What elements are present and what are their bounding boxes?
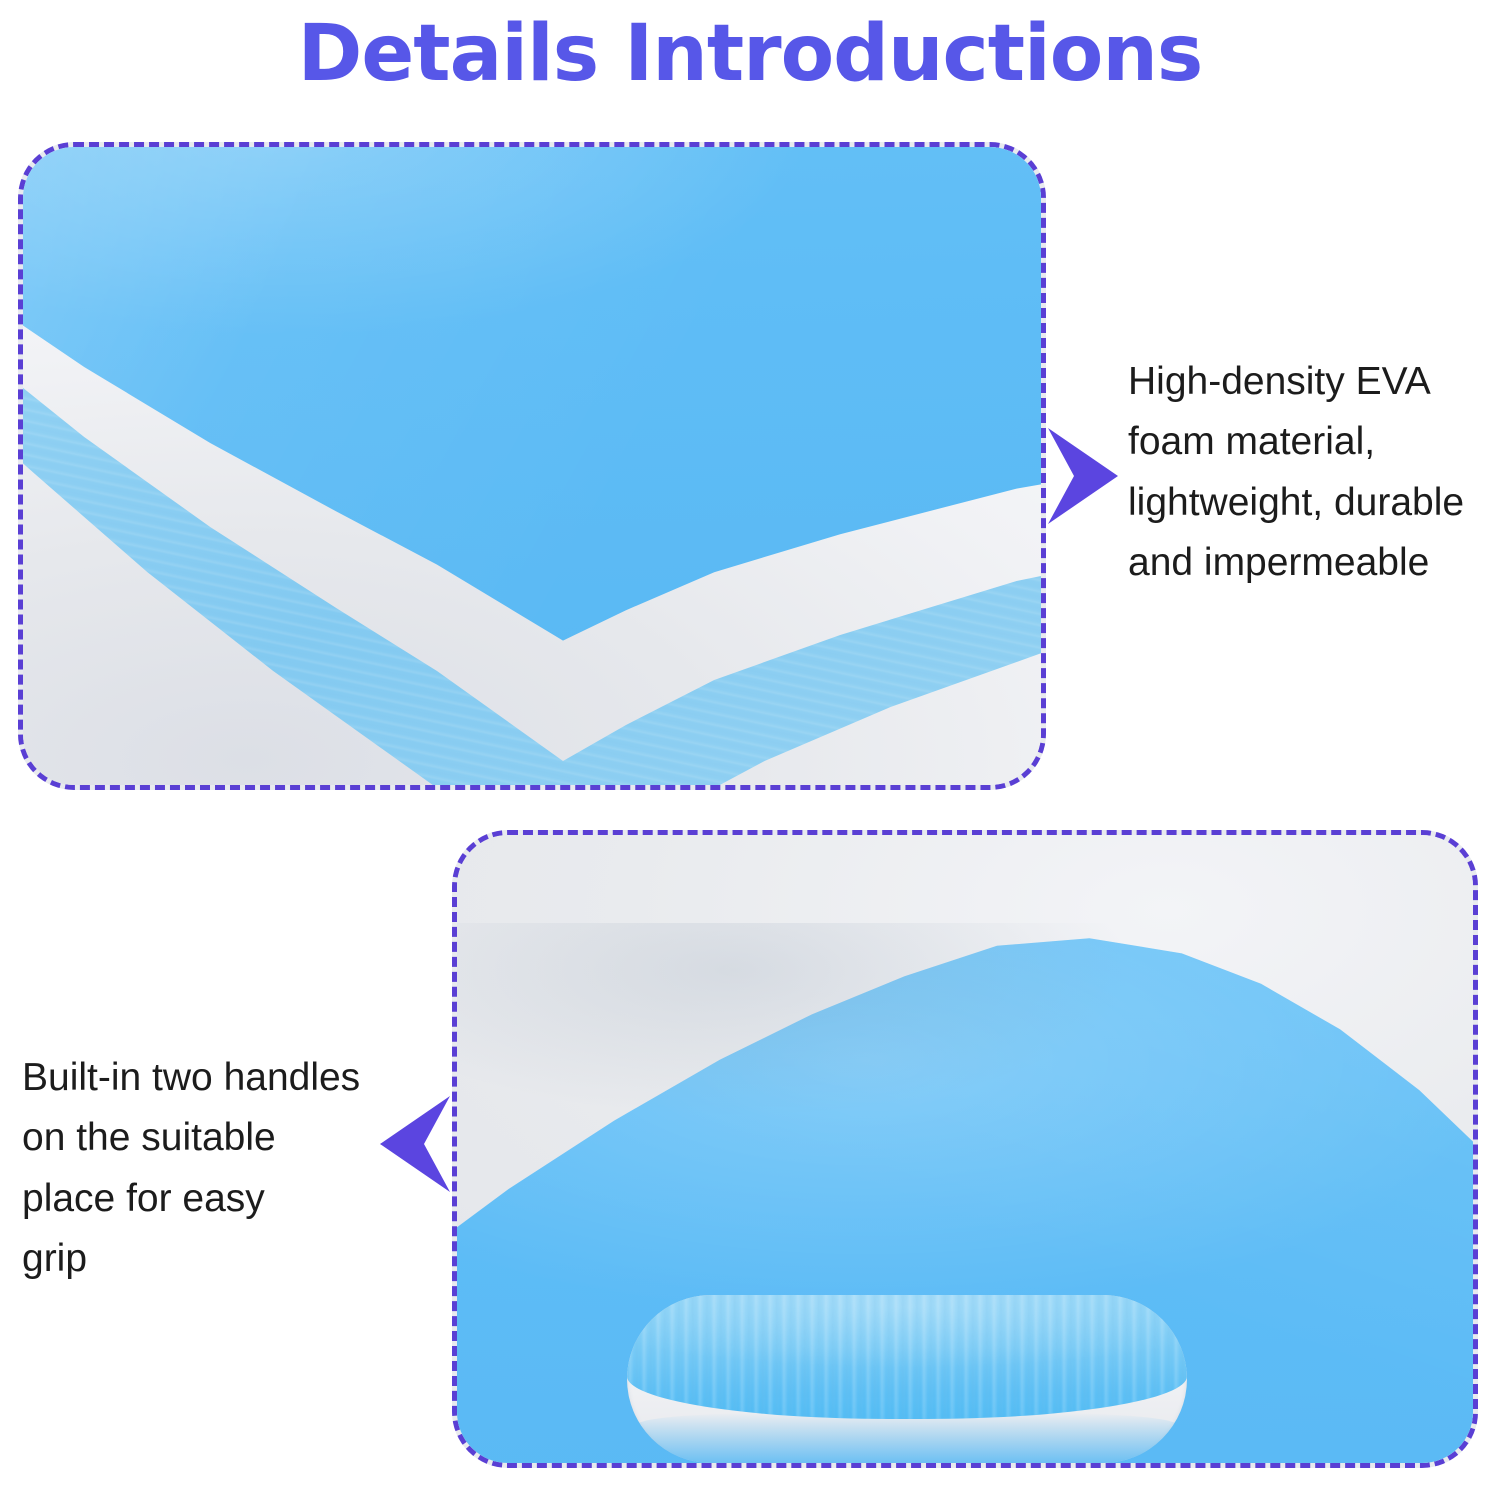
foam-board-corner-photo xyxy=(23,147,1041,785)
arrow-right-icon xyxy=(1044,424,1122,528)
callout-material: High-density EVA foam material, lightwei… xyxy=(1128,352,1488,594)
callout-handles-line-1: Built-in two handles xyxy=(22,1048,392,1108)
handle-inner-wall xyxy=(627,1295,1187,1419)
handle-lower-lip xyxy=(638,1413,1176,1463)
callout-handles: Built-in two handles on the suitable pla… xyxy=(22,1048,392,1290)
foam-board-handle-photo xyxy=(457,835,1473,1463)
callout-handles-line-3: place for easy xyxy=(22,1169,392,1229)
handle-cutout xyxy=(627,1295,1187,1463)
callout-material-line-3: lightweight, durable xyxy=(1128,473,1488,533)
detail-photo-panel-top xyxy=(18,142,1046,790)
callout-handles-line-2: on the suitable xyxy=(22,1108,392,1168)
detail-photo-panel-bottom xyxy=(452,830,1478,1468)
callout-material-line-2: foam material, xyxy=(1128,412,1488,472)
page-title: Details Introductions xyxy=(0,14,1500,96)
callout-material-line-1: High-density EVA xyxy=(1128,352,1488,412)
callout-handles-line-4: grip xyxy=(22,1229,392,1289)
foam-board-surface xyxy=(452,923,1478,1468)
callout-material-line-4: and impermeable xyxy=(1128,533,1488,593)
